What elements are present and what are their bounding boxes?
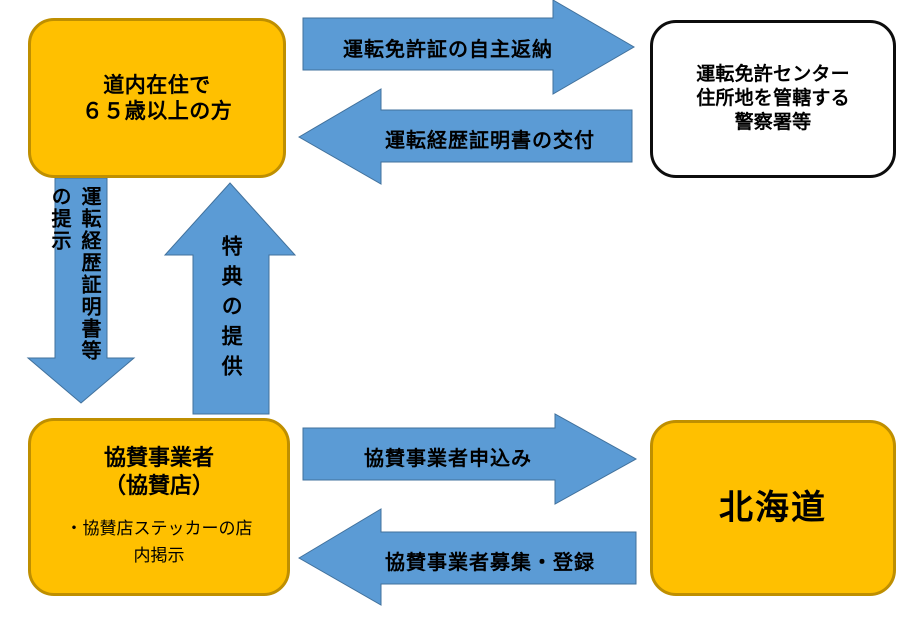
node-hokkaido[interactable]: 北海道 xyxy=(650,420,896,596)
arrow-right-shape xyxy=(303,414,636,504)
diagram-canvas: 運転免許証の自主返納 運転経歴証明書の交付 運転経歴証明書等 の提示 特典の提供… xyxy=(0,0,919,639)
arrow-sponsor-recruit-register xyxy=(299,508,637,607)
node-resident-title: 道内在住で ６５歳以上の方 xyxy=(82,72,233,125)
node-hokkaido-title: 北海道 xyxy=(719,487,827,530)
node-sponsor-business[interactable]: 協賛事業者 （協賛店） ・協賛店ステッカーの店 内掲示 xyxy=(28,418,290,596)
arrow-down-shape xyxy=(28,178,134,403)
arrow-present-certificate xyxy=(27,178,135,404)
arrow-left-shape xyxy=(299,509,636,605)
arrow-right-shape xyxy=(303,0,634,94)
node-resident-over-65[interactable]: 道内在住で ６５歳以上の方 xyxy=(28,18,286,178)
node-license-center-title: 運転免許センター 住所地を管轄する 警察署等 xyxy=(696,63,850,134)
arrow-left-shape xyxy=(299,89,632,184)
arrow-provide-benefit xyxy=(162,183,296,415)
node-sponsor-title: 協賛事業者 （協賛店） xyxy=(104,445,214,500)
arrow-surrender-license xyxy=(303,0,635,96)
node-sponsor-subtext: ・協賛店ステッカーの店 内掲示 xyxy=(54,516,265,569)
arrow-issue-certificate xyxy=(299,88,633,186)
node-license-center[interactable]: 運転免許センター 住所地を管轄する 警察署等 xyxy=(650,20,896,178)
arrow-sponsor-application xyxy=(303,414,637,506)
arrow-up-shape xyxy=(165,183,295,414)
